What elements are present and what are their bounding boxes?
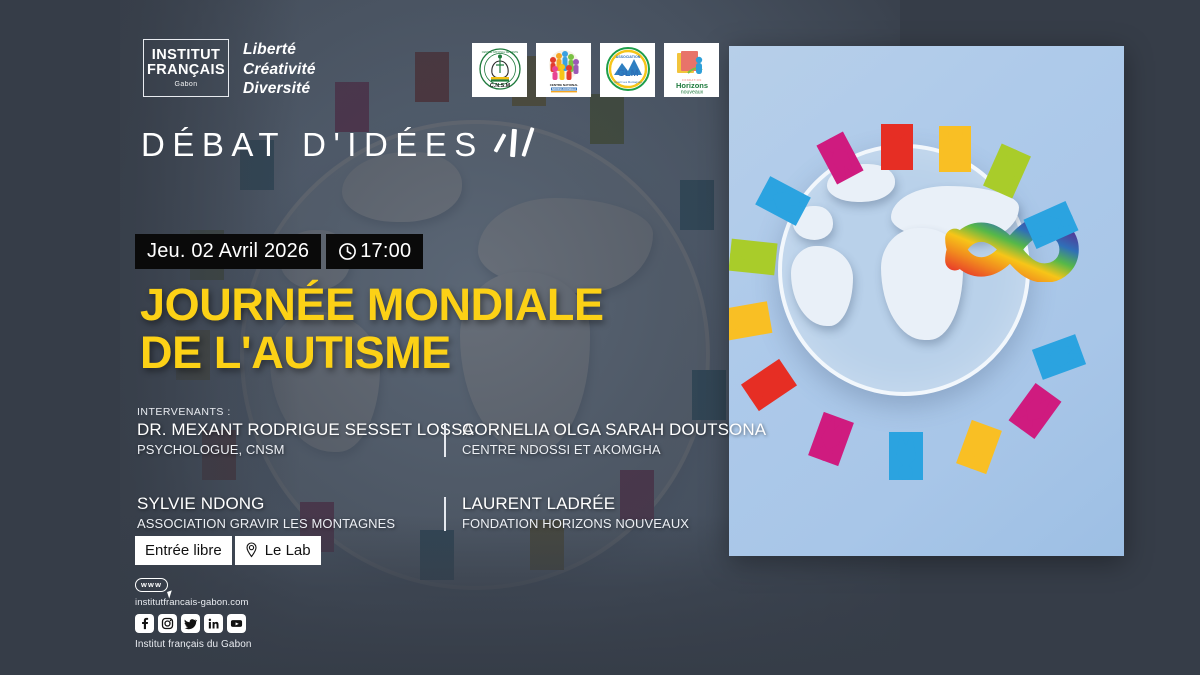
- figurine-magenta-bottom-right: [1009, 383, 1062, 439]
- figurine-yellow-left-lower: [729, 301, 772, 341]
- figurine-red-top: [881, 124, 913, 170]
- youtube-icon[interactable]: [227, 614, 246, 633]
- page-title-line2: DE L'AUTISME: [140, 329, 604, 377]
- cursor-icon: [167, 590, 174, 598]
- partner-logos: C.N.S.M CENTRE NATIONAL DE SANTE CENTRE …: [472, 43, 719, 97]
- entry-badge: Entrée libre: [135, 536, 232, 565]
- svg-text:C.N.S.M: C.N.S.M: [489, 83, 510, 89]
- www-label: www: [141, 580, 162, 589]
- speaker-item: LAURENT LADRÉE FONDATION HORIZONS NOUVEA…: [444, 494, 737, 532]
- organisation-name: Institut français du Gabon: [135, 639, 252, 650]
- partner-logo-glm: GLM ASSOCIATION Gravir Les Montagnes: [600, 43, 655, 97]
- time-badge-label: 17:00: [360, 241, 411, 261]
- footer: www institutfrancais-gabon.com Institut …: [135, 578, 252, 650]
- figurine-green-left: [729, 239, 778, 276]
- figurine-magenta-bottom-left: [808, 412, 854, 466]
- figurine-yellow-bottom: [956, 420, 1002, 474]
- speaker-role: CENTRE NDOSSI ET AKOMGHA: [462, 441, 737, 458]
- svg-text:Gravir Les Montagnes: Gravir Les Montagnes: [614, 80, 642, 84]
- speaker-item: SYLVIE NDONG ASSOCIATION GRAVIR LES MONT…: [137, 494, 444, 532]
- speaker-name: DR. MEXANT RODRIGUE SESSET LOSSA: [137, 420, 444, 440]
- svg-text:GLM: GLM: [617, 68, 638, 79]
- instagram-icon[interactable]: [158, 614, 177, 633]
- svg-text:ASSOCIATION: ASSOCIATION: [615, 55, 640, 59]
- motto-liberte: Liberté: [243, 40, 316, 60]
- figurine-red-bottom-left: [741, 359, 797, 411]
- speaker-item: DR. MEXANT RODRIGUE SESSET LOSSA PSYCHOL…: [137, 420, 444, 458]
- entry-badge-label: Entrée libre: [145, 543, 222, 558]
- venue-badge: Le Lab: [235, 536, 321, 565]
- venue-badge-label: Le Lab: [265, 543, 311, 558]
- facebook-icon[interactable]: [135, 614, 154, 633]
- speaker-role: PSYCHOLOGUE, CNSM: [137, 441, 444, 458]
- speaker-role: ASSOCIATION GRAVIR LES MONTAGNES: [137, 515, 444, 532]
- www-icon: www: [135, 578, 168, 592]
- speaker-name: SYLVIE NDONG: [137, 494, 444, 514]
- speaker-item: CORNELIA OLGA SARAH DOUTSONA CENTRE NDOS…: [444, 420, 737, 458]
- event-poster: INSTITUT FRANÇAIS Gabon Liberté Créativi…: [0, 0, 1200, 675]
- autism-infinity-symbol: [945, 204, 1105, 282]
- date-time-badges: Jeu. 02 Avril 2026 17:00: [135, 234, 423, 269]
- brand-motto: Liberté Créativité Diversité: [243, 40, 316, 99]
- speakers-list: DR. MEXANT RODRIGUE SESSET LOSSA PSYCHOL…: [137, 420, 737, 532]
- website-row: www: [135, 578, 252, 592]
- social-links: [135, 614, 252, 633]
- linkedin-icon[interactable]: [204, 614, 223, 633]
- svg-text:NDOSSI AKOMGHA: NDOSSI AKOMGHA: [551, 87, 575, 91]
- section-heading: DÉBAT D'IDÉES: [141, 127, 542, 161]
- speakers-section-label: INTERVENANTS :: [137, 406, 231, 418]
- location-pin-icon: [245, 542, 258, 558]
- partner-logo-cnsm: C.N.S.M CENTRE NATIONAL DE SANTE: [472, 43, 527, 97]
- institut-francais-logo: INSTITUT FRANÇAIS Gabon: [143, 39, 229, 97]
- speaker-name: LAURENT LADRÉE: [462, 494, 737, 514]
- partner-logo-horizons-nouveaux: FONDATION Horizons nouveaux: [664, 43, 719, 97]
- motto-creativite: Créativité: [243, 60, 316, 80]
- section-heading-label: DÉBAT D'IDÉES: [141, 128, 484, 161]
- svg-text:nouveaux: nouveaux: [680, 90, 703, 96]
- date-badge-label: Jeu. 02 Avril 2026: [147, 241, 309, 261]
- logo-line-gabon: Gabon: [174, 81, 197, 88]
- figurine-blue-right-lower: [1032, 334, 1086, 380]
- clock-icon: [338, 242, 357, 261]
- logo-line-francais: FRANÇAIS: [147, 63, 225, 78]
- figurine-yellow-top: [939, 126, 971, 172]
- svg-text:CENTRE NATIONAL: CENTRE NATIONAL: [549, 83, 578, 87]
- date-badge: Jeu. 02 Avril 2026: [135, 234, 321, 269]
- debat-idees-mark-icon: [498, 127, 542, 161]
- website-url: institutfrancais-gabon.com: [135, 597, 252, 608]
- figurine-blue-bottom: [889, 432, 923, 480]
- speaker-name: CORNELIA OLGA SARAH DOUTSONA: [462, 420, 737, 440]
- partner-logo-ndossi-akomgha: CENTRE NATIONAL NDOSSI AKOMGHA: [536, 43, 591, 97]
- logo-line-institut: INSTITUT: [152, 48, 220, 63]
- photo-scene: [729, 46, 1124, 556]
- time-badge: 17:00: [326, 234, 423, 269]
- info-badges: Entrée libre Le Lab: [135, 536, 321, 565]
- page-title-line1: JOURNÉE MONDIALE: [140, 281, 604, 329]
- twitter-icon[interactable]: [181, 614, 200, 633]
- speaker-role: FONDATION HORIZONS NOUVEAUX: [462, 515, 737, 532]
- page-title: JOURNÉE MONDIALE DE L'AUTISME: [140, 281, 604, 377]
- autism-globe-photo: [729, 46, 1124, 556]
- motto-diversite: Diversité: [243, 79, 316, 99]
- svg-text:CENTRE NATIONAL DE SANTE: CENTRE NATIONAL DE SANTE: [481, 51, 518, 54]
